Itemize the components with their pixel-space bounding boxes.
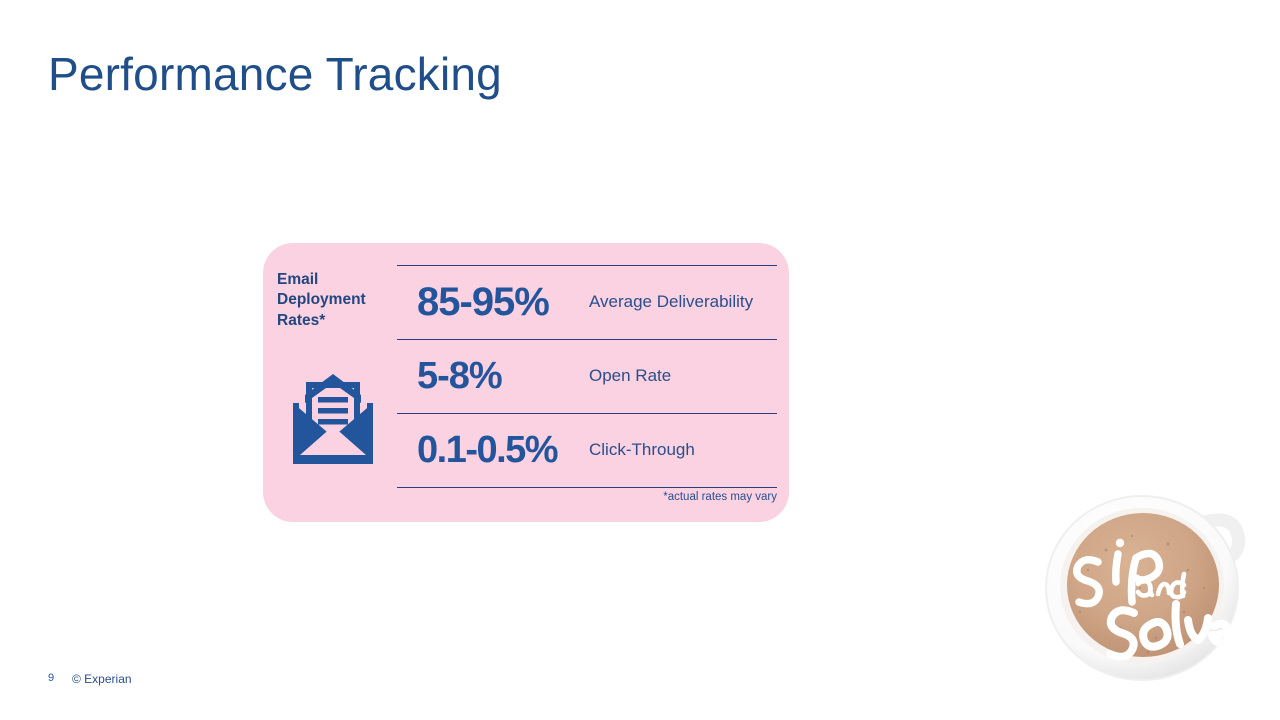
stat-row: 0.1-0.5% Click-Through (397, 413, 777, 487)
stat-description: Click-Through (589, 438, 777, 463)
stat-description: Open Rate (589, 364, 777, 389)
page-title: Performance Tracking (48, 48, 502, 101)
stat-value: 0.1-0.5% (397, 431, 589, 469)
footnote: *actual rates may vary (397, 491, 777, 503)
email-deployment-rates-card: Email Deployment Rates* 85-95% Average D… (263, 243, 789, 522)
card-label: Email Deployment Rates* (277, 270, 392, 331)
stats-rows: 85-95% Average Deliverability 5-8% Open … (397, 265, 777, 515)
copyright-notice: © Experian (72, 672, 132, 686)
row-divider-bottom (397, 487, 777, 488)
coffee-cup-sip-and-solve-logo (1036, 492, 1264, 692)
stat-value: 85-95% (397, 282, 589, 322)
stat-value: 5-8% (397, 357, 589, 395)
stat-description: Average Deliverability (589, 290, 777, 315)
stat-row: 5-8% Open Rate (397, 339, 777, 413)
open-envelope-icon (285, 369, 381, 469)
slide-number: 9 (48, 672, 54, 684)
stat-row: 85-95% Average Deliverability (397, 265, 777, 339)
